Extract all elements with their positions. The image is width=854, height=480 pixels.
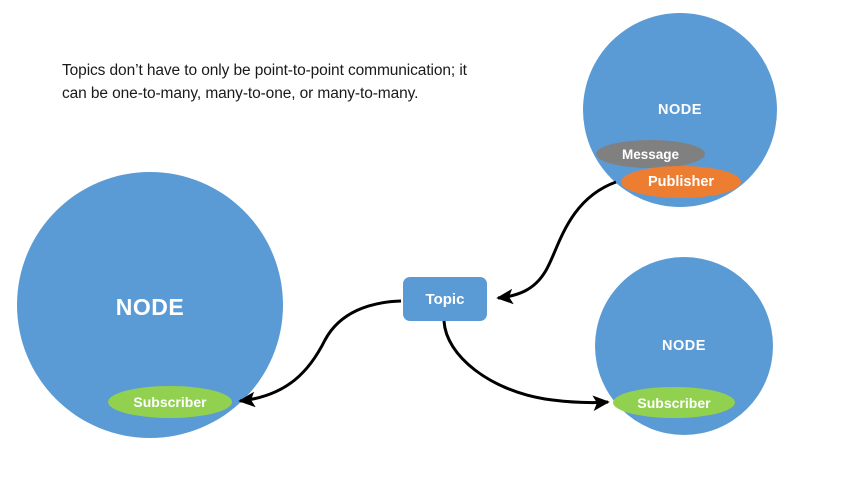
subscriber-ellipse-bottom-right: Subscriber	[613, 387, 735, 418]
message-ellipse: Message	[596, 140, 705, 168]
node-label-top-right: NODE	[583, 102, 777, 118]
node-label-left: NODE	[17, 294, 283, 321]
topic-box: Topic	[403, 277, 487, 321]
caption-text: Topics don’t have to only be point-to-po…	[62, 59, 482, 106]
publisher-ellipse: Publisher	[621, 166, 741, 198]
edge-topic-to-bottom-right-subscriber	[444, 321, 608, 403]
diagram-canvas: Topics don’t have to only be point-to-po…	[0, 0, 854, 480]
subscriber-ellipse-left: Subscriber	[108, 386, 232, 418]
edge-publisher-to-topic	[498, 182, 616, 298]
node-label-bottom-right: NODE	[595, 338, 773, 354]
